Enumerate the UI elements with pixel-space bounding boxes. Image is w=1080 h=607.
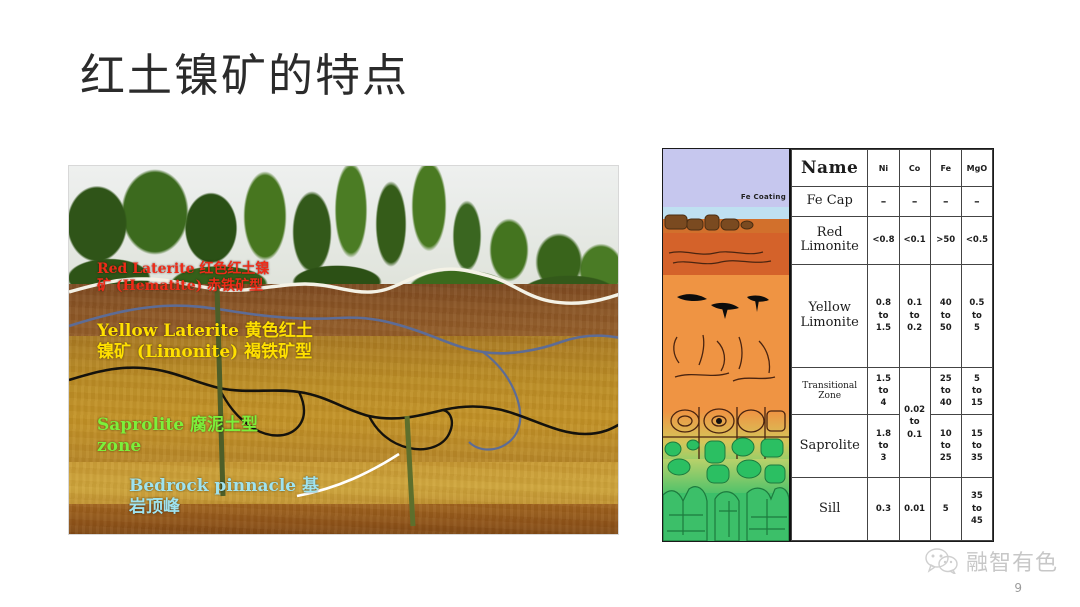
cell-ni: 1.5 to 4 [868, 368, 899, 415]
cell-mgo: 15 to 35 [961, 415, 992, 477]
cell-mgo: – [961, 187, 992, 217]
table-header-fe: Fe [930, 150, 961, 187]
row-name-sill: Sill [792, 477, 868, 540]
cell-ni: <0.8 [868, 217, 899, 264]
row-name-saprolite: Saprolite [792, 415, 868, 477]
soil-profile-diagram: Fe Coating [663, 149, 791, 541]
table-row: Saprolite 1.8 to 3 10 to 25 15 to 35 [792, 415, 993, 477]
page-number: 9 [1014, 581, 1022, 595]
table-row: Sill 0.3 0.01 5 35 to 45 [792, 477, 993, 540]
fe-cap-boulders [665, 215, 753, 230]
yellow-limonite-streaks [677, 294, 769, 319]
row-name-red-limonite: Red Limonite [792, 217, 868, 264]
table-row: Yellow Limonite 0.8 to 1.5 0.1 to 0.2 40… [792, 264, 993, 368]
cell-co-merged: 0.02 to 0.1 [899, 368, 930, 478]
cell-co: <0.1 [899, 217, 930, 264]
cell-co: 0.1 to 0.2 [899, 264, 930, 368]
cell-co: 0.01 [899, 477, 930, 540]
foreground-trunk-right [407, 416, 413, 526]
cell-ni: 0.8 to 1.5 [868, 264, 899, 368]
page-title: 红土镍矿的特点 [80, 48, 409, 104]
bedrock-pinnacles [663, 487, 789, 541]
table-header-name: Name [792, 150, 868, 187]
table-header-row: Name Ni Co Fe MgO [792, 150, 993, 187]
cell-mgo: 5 to 15 [961, 368, 992, 415]
row-name-fe-cap: Fe Cap [792, 187, 868, 217]
cell-fe: 10 to 25 [930, 415, 961, 477]
profile-sketch-overlay [663, 149, 789, 541]
table-header-ni: Ni [868, 150, 899, 187]
row-name-yellow-limonite: Yellow Limonite [792, 264, 868, 368]
watermark-text: 融智有色 [966, 545, 1058, 577]
table-header-mgo: MgO [961, 150, 992, 187]
wechat-icon [925, 548, 959, 574]
cell-fe: >50 [930, 217, 961, 264]
table-header-co: Co [899, 150, 930, 187]
transitional-nodule-core [716, 418, 722, 424]
table-row: Fe Cap – – – – [792, 187, 993, 217]
row-name-transitional-zone: Transitional Zone [792, 368, 868, 415]
cell-fe: 40 to 50 [930, 264, 961, 368]
saprolite-nodules [665, 438, 785, 483]
watermark: 融智有色 [925, 545, 1058, 577]
fe-coating-label: Fe Coating [741, 193, 786, 201]
photo-label-red-laterite: Red Laterite 红色红土镍 矿 (Hematite) 赤铁矿型 [97, 261, 269, 295]
foreground-trunk-left [217, 286, 223, 496]
table-row: Red Limonite <0.8 <0.1 >50 <0.5 [792, 217, 993, 264]
yellow-limonite-fractures [674, 335, 775, 381]
cell-fe: 25 to 40 [930, 368, 961, 415]
field-photo: Red Laterite 红色红土镍 矿 (Hematite) 赤铁矿型 Yel… [68, 165, 619, 535]
red-limonite-strata-lines [669, 252, 771, 264]
cell-fe: – [930, 187, 961, 217]
cell-co: – [899, 187, 930, 217]
geochemistry-table: Name Ni Co Fe MgO Fe Cap – – – – Red Lim… [791, 149, 993, 541]
cell-mgo: <0.5 [961, 217, 992, 264]
cell-fe: 5 [930, 477, 961, 540]
cell-mgo: 0.5 to 5 [961, 264, 992, 368]
photo-label-bedrock: Bedrock pinnacle 基 岩顶峰 [129, 476, 319, 517]
cell-ni: – [868, 187, 899, 217]
cell-mgo: 35 to 45 [961, 477, 992, 540]
blue-boundary-branch [469, 352, 520, 450]
laterite-profile-figure: Fe Coating Name Ni Co Fe MgO Fe Cap – – … [662, 148, 994, 542]
cell-ni: 0.3 [868, 477, 899, 540]
table-row: Transitional Zone 1.5 to 4 0.02 to 0.1 2… [792, 368, 993, 415]
photo-label-saprolite: Saprolite 腐泥土型 zone [97, 415, 258, 456]
cell-ni: 1.8 to 3 [868, 415, 899, 477]
photo-label-yellow-laterite: Yellow Laterite 黄色红土 镍矿 (Limonite) 褐铁矿型 [97, 321, 313, 362]
